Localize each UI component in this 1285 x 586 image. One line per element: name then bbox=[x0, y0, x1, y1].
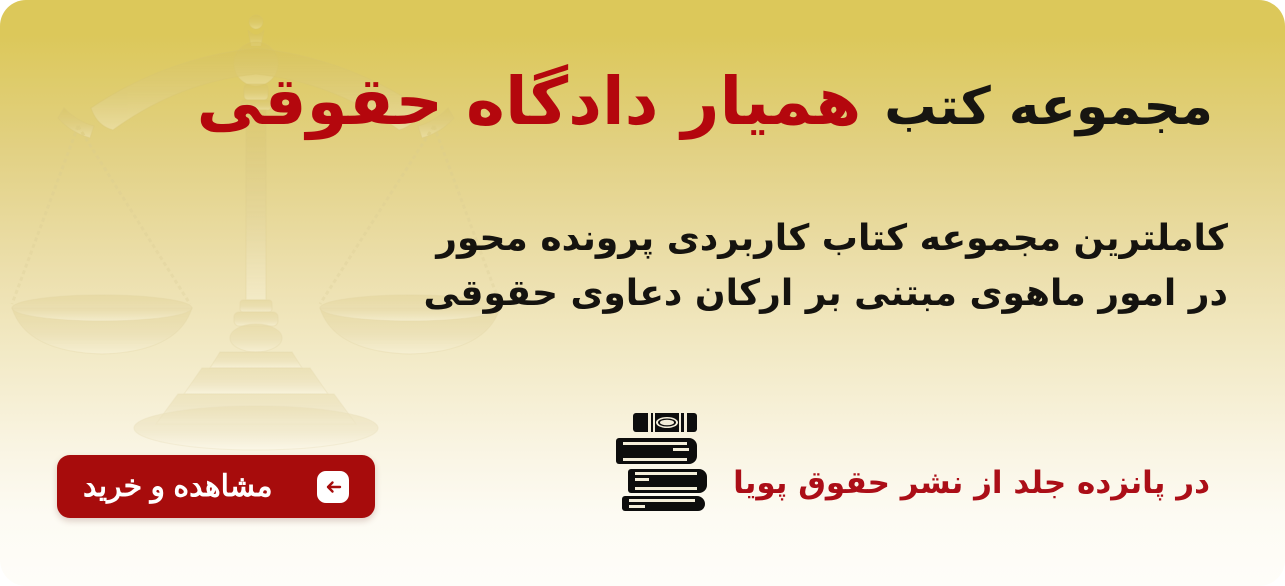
banner-headline: مجموعه کتب همیار دادگاه حقوقی bbox=[413, 64, 1213, 141]
headline-accent: همیار دادگاه حقوقی bbox=[197, 63, 862, 140]
subtitle-line-2: در امور ماهوی مبتنی بر ارکان دعاوی حقوقی bbox=[468, 267, 1228, 322]
view-and-buy-button[interactable]: مشاهده و خرید bbox=[57, 455, 375, 518]
headline-lead: مجموعه کتب bbox=[884, 77, 1213, 137]
banner-subtitle: کاملترین مجموعه کتاب کاربردی پرونده محور… bbox=[468, 212, 1228, 321]
publisher-line: در پانزده جلد از نشر حقوق پویا bbox=[615, 455, 1210, 511]
subtitle-line-1: کاملترین مجموعه کتاب کاربردی پرونده محور bbox=[468, 212, 1228, 267]
promo-banner: مجموعه کتب همیار دادگاه حقوقی کاملترین م… bbox=[0, 0, 1285, 586]
cta-label: مشاهده و خرید bbox=[83, 469, 273, 504]
publisher-text: در پانزده جلد از نشر حقوق پویا bbox=[733, 465, 1210, 501]
arrow-left-icon bbox=[317, 471, 349, 503]
stacked-books-icon bbox=[615, 455, 711, 511]
